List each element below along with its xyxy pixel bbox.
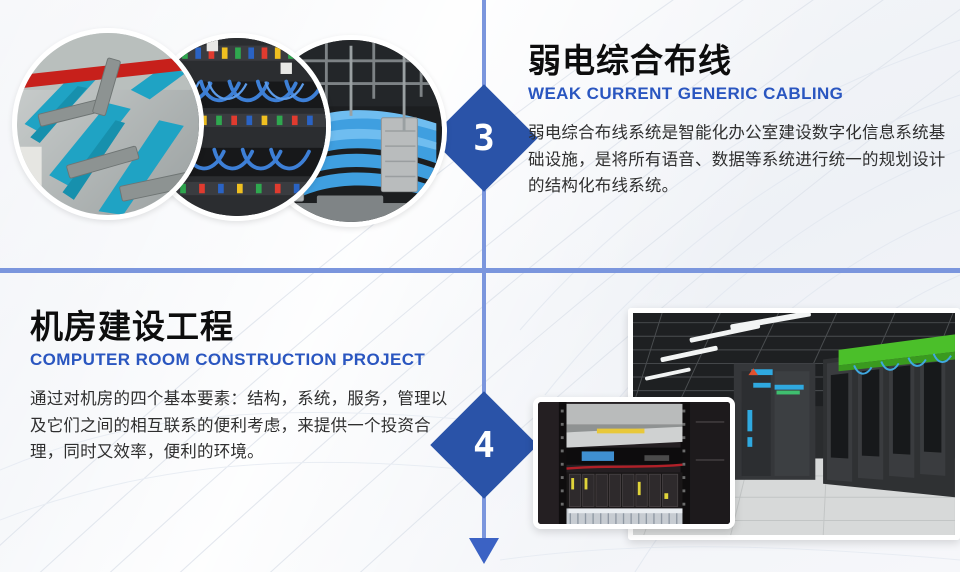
infographic-canvas: 3 弱电综合布线 WEAK CURRENT GENERIC CABLING 弱电… xyxy=(0,0,960,572)
photo-rect-network-chassis xyxy=(533,397,735,529)
photo-circle-cable-tray xyxy=(12,28,204,220)
section-divider-line xyxy=(0,268,960,273)
step-number-3: 3 xyxy=(446,100,522,176)
section-4-description: 通过对机房的四个基本要素：结构，系统，服务，管理以及它们之间的相互联系的便利考虑… xyxy=(30,386,450,466)
section-3-en-title: WEAK CURRENT GENERIC CABLING xyxy=(528,84,948,104)
section-3-text: 弱电综合布线 WEAK CURRENT GENERIC CABLING 弱电综合… xyxy=(528,42,948,200)
section-4-zh-title: 机房建设工程 xyxy=(30,308,450,346)
step-number-4: 4 xyxy=(446,407,522,483)
section-3-zh-title: 弱电综合布线 xyxy=(528,42,948,80)
down-arrow-icon xyxy=(469,538,499,564)
section-4-en-title: COMPUTER ROOM CONSTRUCTION PROJECT xyxy=(30,350,450,370)
section-3-description: 弱电综合布线系统是智能化办公室建设数字化信息系统基础设施，是将所有语音、数据等系… xyxy=(528,120,948,200)
section-4-text: 机房建设工程 COMPUTER ROOM CONSTRUCTION PROJEC… xyxy=(30,308,450,466)
